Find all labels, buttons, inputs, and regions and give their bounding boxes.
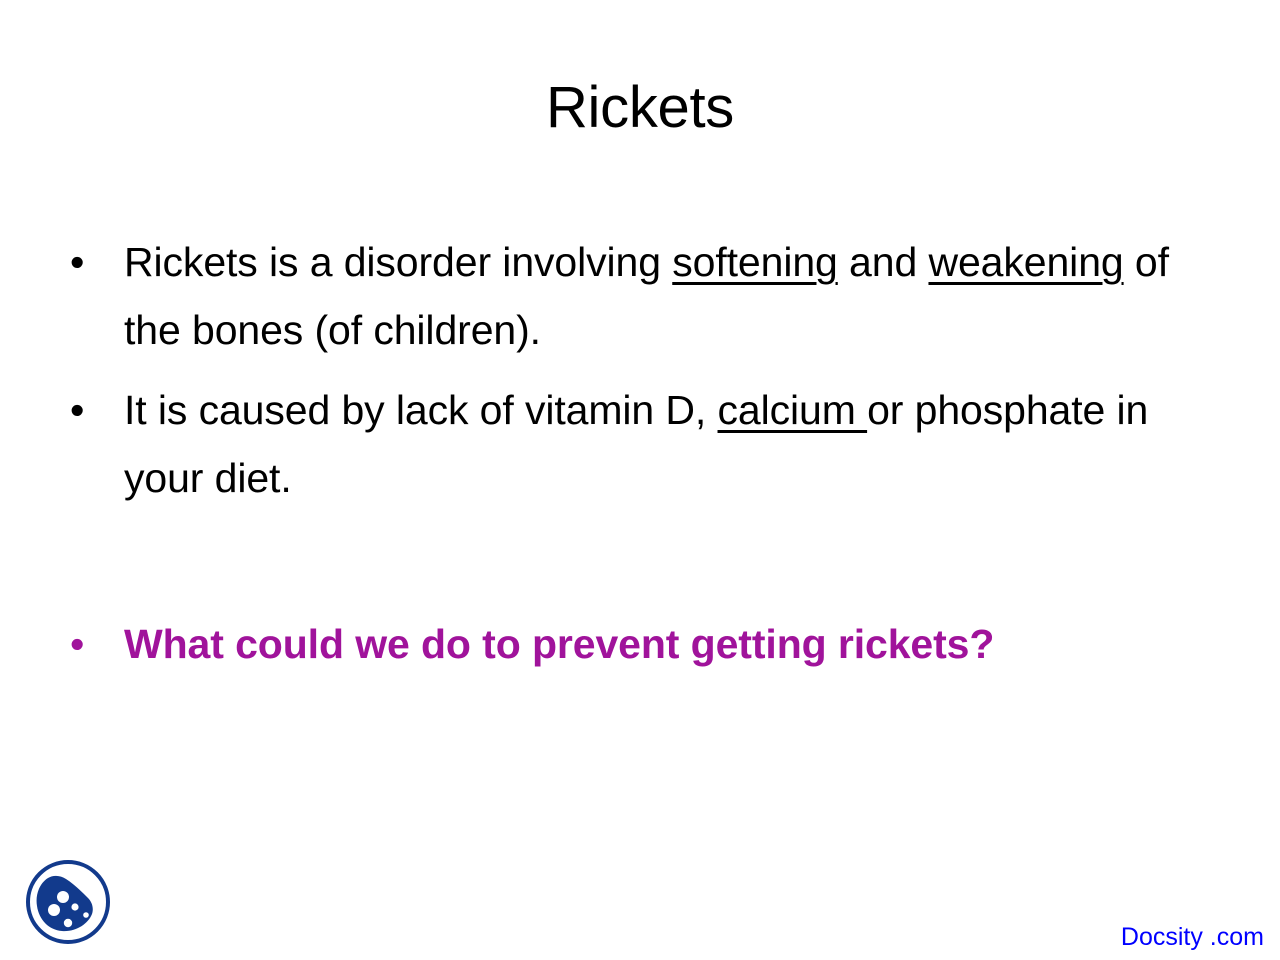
question-text: What could we do to prevent getting rick… — [124, 610, 1250, 678]
docsity-watermark: Docsity .com — [1121, 923, 1264, 952]
underlined-term: calcium — [718, 387, 868, 433]
bullet-list: • Rickets is a disorder involving soften… — [70, 228, 1210, 512]
underlined-term: softening — [672, 239, 838, 285]
list-item: • Rickets is a disorder involving soften… — [70, 228, 1210, 364]
text-run: Rickets is a disorder involving — [124, 239, 672, 285]
slide-canvas: Rickets • Rickets is a disorder involvin… — [0, 0, 1280, 960]
question-item: • What could we do to prevent getting ri… — [70, 610, 1250, 678]
bullet-marker-icon: • — [70, 610, 124, 678]
bullet-text-1: Rickets is a disorder involving softenin… — [124, 228, 1210, 364]
docsity-logo-icon — [18, 852, 118, 952]
bullet-text-2: It is caused by lack of vitamin D, calci… — [124, 376, 1210, 512]
text-run: It is caused by lack of vitamin D, — [124, 387, 718, 433]
bullet-marker-icon: • — [70, 228, 124, 296]
list-item: • It is caused by lack of vitamin D, cal… — [70, 376, 1210, 512]
text-run: and — [838, 239, 929, 285]
bullet-marker-icon: • — [70, 376, 124, 444]
page-title: Rickets — [0, 76, 1280, 141]
underlined-term: weakening — [928, 239, 1123, 285]
